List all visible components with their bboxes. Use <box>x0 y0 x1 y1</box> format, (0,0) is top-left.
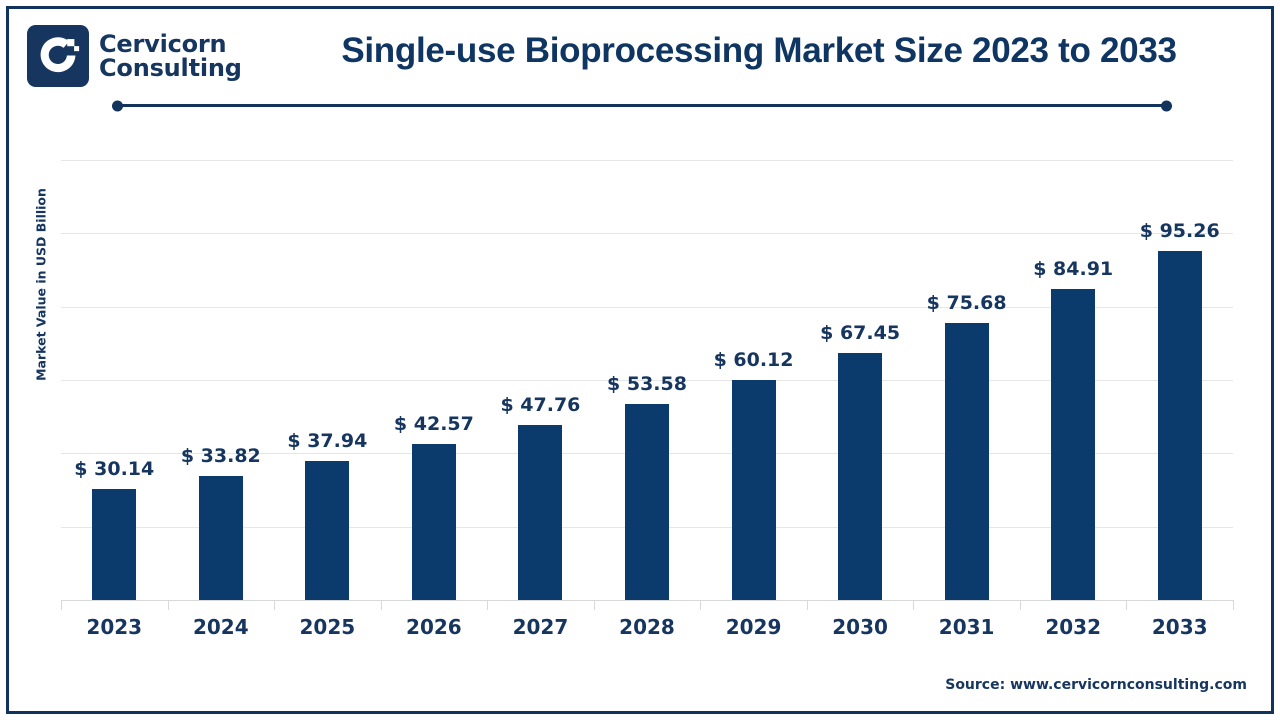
x-axis-tick <box>594 600 595 610</box>
bar[interactable] <box>732 380 776 600</box>
bar-group: $ 42.572026 <box>381 9 488 711</box>
bar[interactable] <box>838 353 882 600</box>
x-axis-tick <box>913 600 914 610</box>
x-axis-tick-label: 2024 <box>193 615 249 639</box>
bar[interactable] <box>412 444 456 600</box>
x-axis-tick <box>61 600 62 610</box>
bar-group: $ 67.452030 <box>807 9 914 711</box>
x-axis-tick <box>487 600 488 610</box>
bar-value-label: $ 84.91 <box>1033 258 1113 280</box>
bar[interactable] <box>305 461 349 600</box>
x-axis-tick-label: 2025 <box>300 615 356 639</box>
bar[interactable] <box>625 404 669 600</box>
bar[interactable] <box>1158 251 1202 600</box>
bar-value-label: $ 95.26 <box>1140 220 1220 242</box>
chart-canvas: Cervicorn Consulting Single-use Bioproce… <box>0 0 1280 720</box>
x-axis-tick <box>168 600 169 610</box>
bar-value-label: $ 33.82 <box>181 445 261 467</box>
x-axis-tick-label: 2031 <box>939 615 995 639</box>
x-axis-tick-label: 2027 <box>513 615 569 639</box>
x-axis-tick-label: 2030 <box>832 615 888 639</box>
bar-value-label: $ 53.58 <box>607 373 687 395</box>
bar-group: $ 95.262033 <box>1126 9 1233 711</box>
x-axis-tick <box>1020 600 1021 610</box>
x-axis-tick <box>381 600 382 610</box>
bar-value-label: $ 47.76 <box>500 394 580 416</box>
x-axis-tick-label: 2028 <box>619 615 675 639</box>
plot-area: Market Value in USD Billion $ 30.142023$… <box>9 9 1271 711</box>
y-axis-label: Market Value in USD Billion <box>34 85 49 485</box>
bar-group: $ 47.762027 <box>487 9 594 711</box>
bar-group: $ 60.122029 <box>700 9 807 711</box>
bar-value-label: $ 30.14 <box>74 458 154 480</box>
bar-group: $ 84.912032 <box>1020 9 1127 711</box>
x-axis-tick-label: 2032 <box>1045 615 1101 639</box>
bar-group: $ 30.142023 <box>61 9 168 711</box>
bar-value-label: $ 67.45 <box>820 322 900 344</box>
bar[interactable] <box>518 425 562 600</box>
bar[interactable] <box>92 489 136 600</box>
bar-value-label: $ 75.68 <box>927 292 1007 314</box>
bar-group: $ 75.682031 <box>913 9 1020 711</box>
bar-value-label: $ 37.94 <box>287 430 367 452</box>
bar-group: $ 33.822024 <box>168 9 275 711</box>
chart-frame: Cervicorn Consulting Single-use Bioproce… <box>6 6 1274 714</box>
x-axis-tick <box>274 600 275 610</box>
x-axis-tick-label: 2033 <box>1152 615 1208 639</box>
bar[interactable] <box>945 323 989 600</box>
x-axis-tick <box>807 600 808 610</box>
x-axis-tick <box>700 600 701 610</box>
x-axis-tick <box>1126 600 1127 610</box>
bar-group: $ 37.942025 <box>274 9 381 711</box>
source-note: Source: www.cervicornconsulting.com <box>945 677 1247 693</box>
x-axis-tick <box>1233 600 1234 610</box>
bar[interactable] <box>1051 289 1095 600</box>
x-axis-tick-label: 2029 <box>726 615 782 639</box>
bar-value-label: $ 60.12 <box>714 349 794 371</box>
bar-value-label: $ 42.57 <box>394 413 474 435</box>
x-axis-tick-label: 2023 <box>86 615 142 639</box>
bar-group: $ 53.582028 <box>594 9 701 711</box>
bar-series: $ 30.142023$ 33.822024$ 37.942025$ 42.57… <box>61 9 1233 711</box>
x-axis-tick-label: 2026 <box>406 615 462 639</box>
bar[interactable] <box>199 476 243 600</box>
